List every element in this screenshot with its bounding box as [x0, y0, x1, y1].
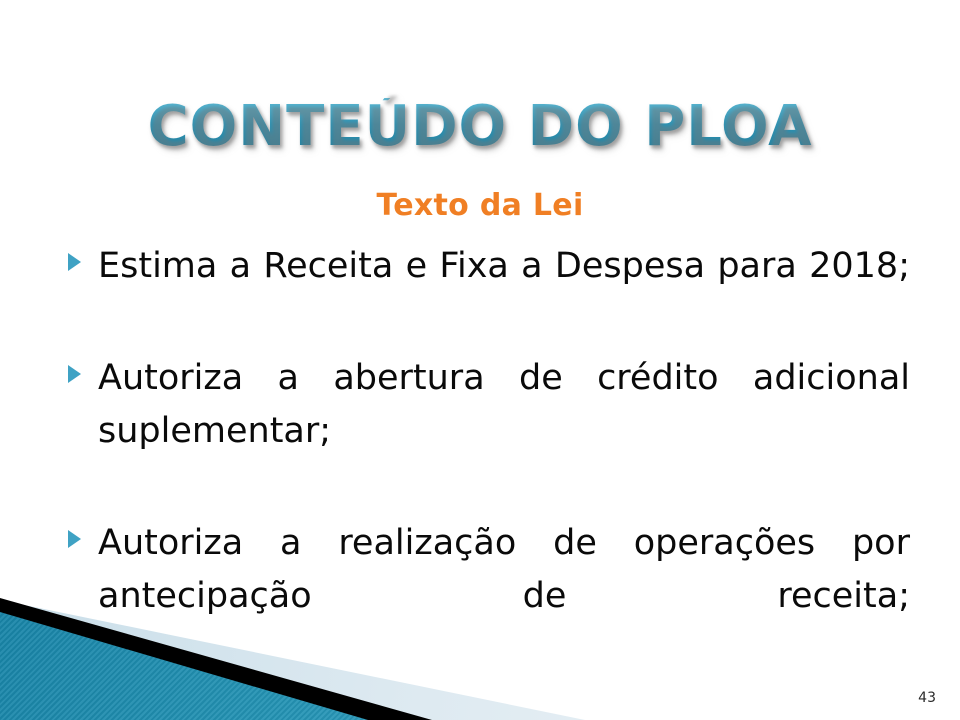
triangle-right-icon [68, 530, 81, 548]
list-item-text: Autoriza a realização de operações por a… [98, 517, 910, 676]
triangle-right-icon [68, 365, 81, 383]
bullet-list: Estima a Receita e Fixa a Despesa para 2… [62, 240, 910, 682]
list-item: Estima a Receita e Fixa a Despesa para 2… [62, 240, 910, 346]
page-number: 43 [918, 690, 936, 706]
slide: CONTEÚDO DO PLOA Texto da Lei Estima a R… [0, 0, 960, 720]
list-item: Autoriza a realização de operações por a… [62, 517, 910, 676]
triangle-right-icon [68, 253, 81, 271]
list-item-text: Estima a Receita e Fixa a Despesa para 2… [98, 240, 910, 346]
page-title: CONTEÚDO DO PLOA [0, 98, 960, 157]
slide-subtitle: Texto da Lei [0, 188, 960, 223]
list-item-text: Autoriza a abertura de crédito adicional… [98, 352, 910, 511]
list-item: Autoriza a abertura de crédito adicional… [62, 352, 910, 511]
